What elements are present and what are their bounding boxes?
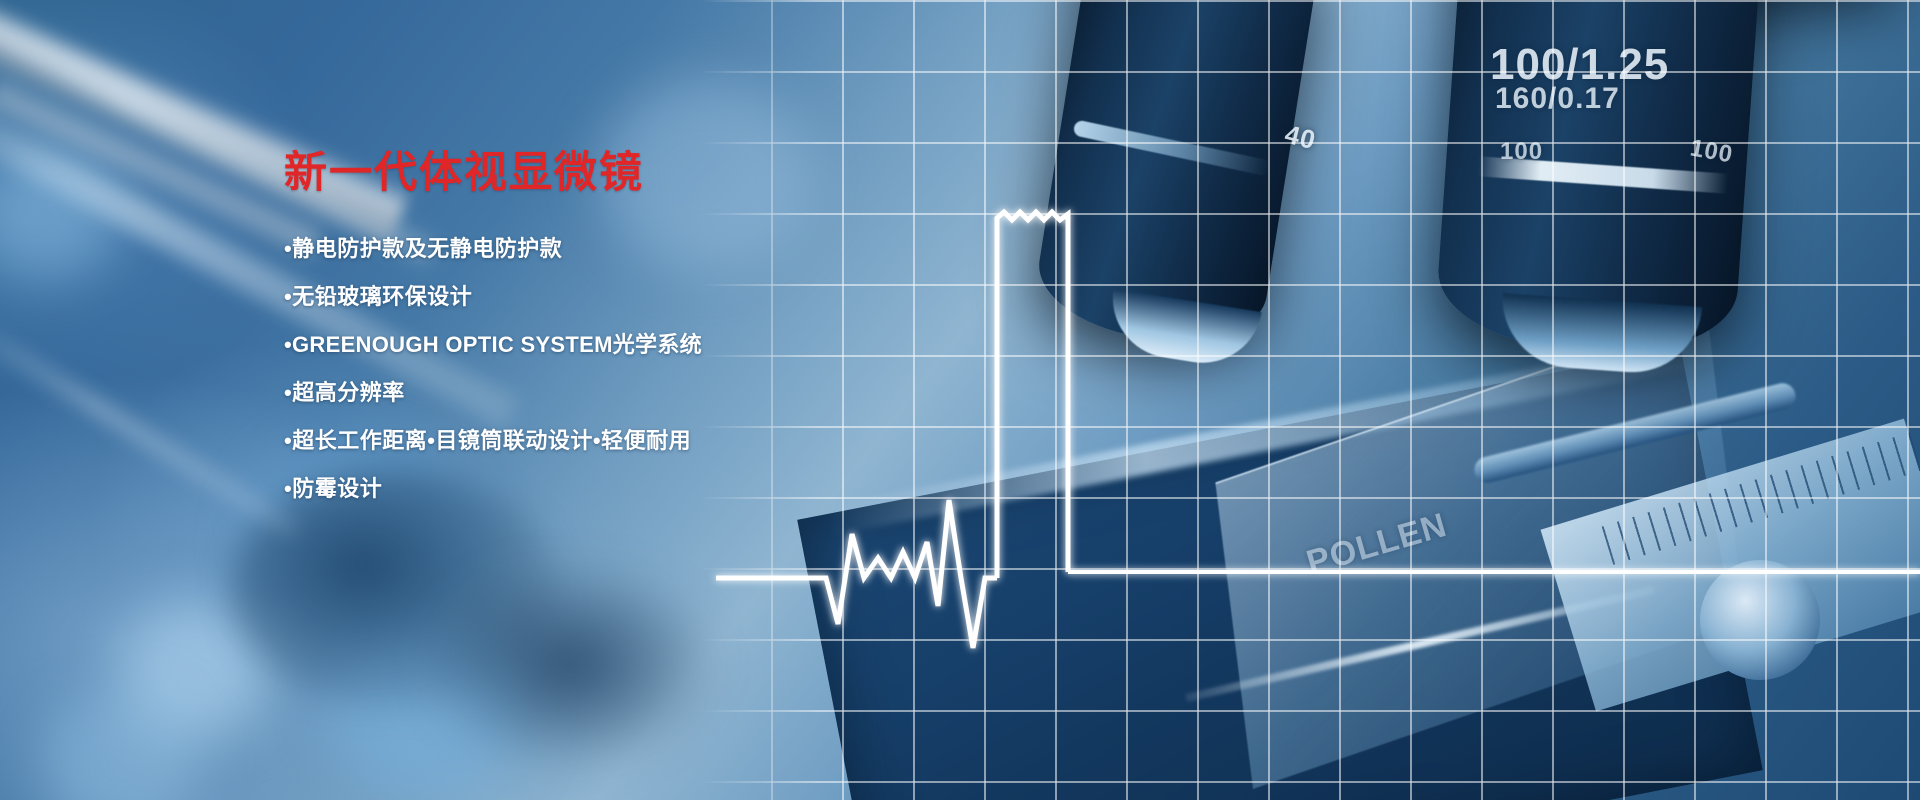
list-item: •GREENOUGH OPTIC SYSTEM光学系统 xyxy=(284,327,844,359)
banner-image: POLLEN 40 100/1.25 160/0.17 100 100 新一代 xyxy=(0,0,1920,800)
text-block: 新一代体视显微镜 •静电防护款及无静电防护款 •无铅玻璃环保设计 •GREENO… xyxy=(284,150,844,519)
list-item: •无铅玻璃环保设计 xyxy=(284,279,844,311)
bar-shape xyxy=(997,212,1068,578)
ecg-waveform xyxy=(716,500,997,648)
list-item: •静电防护款及无静电防护款 xyxy=(284,231,844,263)
page-title: 新一代体视显微镜 xyxy=(284,150,844,197)
list-item: •防霉设计 xyxy=(284,471,844,503)
list-item: •超高分辨率 xyxy=(284,375,844,407)
list-item: •超长工作距离•目镜筒联动设计•轻便耐用 xyxy=(284,423,844,455)
feature-list: •静电防护款及无静电防护款 •无铅玻璃环保设计 •GREENOUGH OPTIC… xyxy=(284,231,844,503)
